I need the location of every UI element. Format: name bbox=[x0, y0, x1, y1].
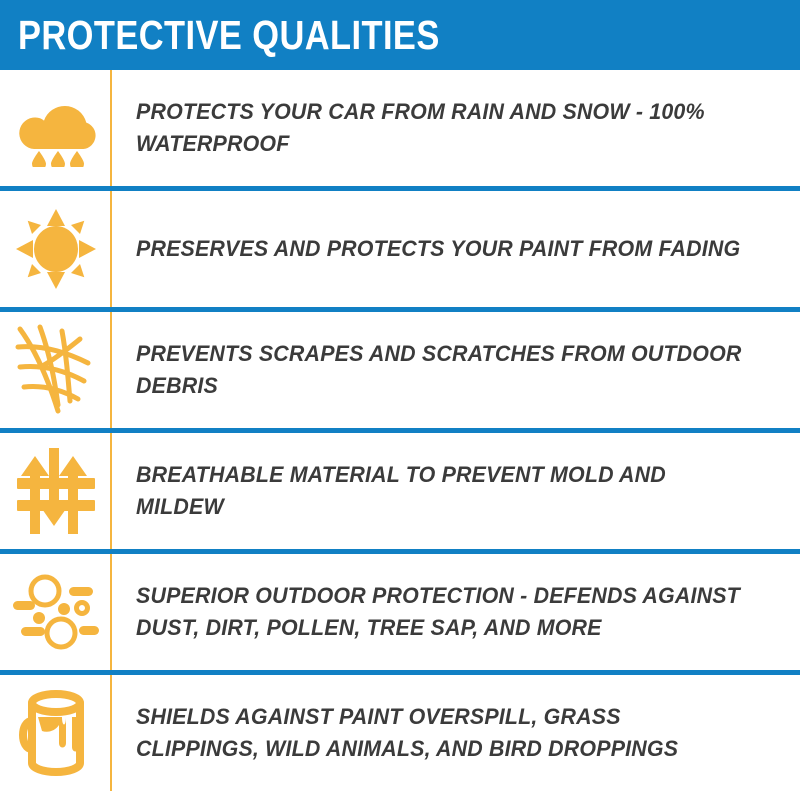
sun-icon bbox=[16, 209, 96, 289]
infographic-page: PROTECTIVE QUALITIES PROTECTS YOUR CAR F… bbox=[0, 0, 800, 800]
scratch-mesh-icon bbox=[14, 323, 98, 417]
feature-text-2: PRESERVES AND PROTECTS YOUR PAINT FROM F… bbox=[136, 233, 740, 265]
feature-text-6: SHIELDS AGAINST PAINT OVERSPILL, GRASS C… bbox=[136, 701, 748, 765]
feature-text-1: PROTECTS YOUR CAR FROM RAIN AND SNOW - 1… bbox=[136, 96, 748, 160]
text-cell-6: SHIELDS AGAINST PAINT OVERSPILL, GRASS C… bbox=[112, 675, 800, 791]
page-title: PROTECTIVE QUALITIES bbox=[18, 15, 440, 56]
feature-row-1: PROTECTS YOUR CAR FROM RAIN AND SNOW - 1… bbox=[0, 70, 800, 186]
feature-text-5: SUPERIOR OUTDOOR PROTECTION - DEFENDS AG… bbox=[136, 580, 748, 644]
text-cell-4: BREATHABLE MATERIAL TO PREVENT MOLD AND … bbox=[112, 433, 800, 549]
icon-cell-1 bbox=[0, 70, 112, 186]
icon-cell-4 bbox=[0, 433, 112, 549]
text-cell-1: PROTECTS YOUR CAR FROM RAIN AND SNOW - 1… bbox=[112, 70, 800, 186]
feature-row-3: PREVENTS SCRAPES AND SCRATCHES FROM OUTD… bbox=[0, 312, 800, 428]
icon-cell-6 bbox=[0, 675, 112, 791]
dust-particles-icon bbox=[13, 571, 99, 653]
feature-row-6: SHIELDS AGAINST PAINT OVERSPILL, GRASS C… bbox=[0, 675, 800, 791]
icon-cell-2 bbox=[0, 191, 112, 307]
icon-cell-5 bbox=[0, 554, 112, 670]
breathable-airflow-icon bbox=[17, 448, 95, 534]
paint-bucket-icon bbox=[18, 687, 94, 779]
feature-row-5: SUPERIOR OUTDOOR PROTECTION - DEFENDS AG… bbox=[0, 554, 800, 670]
header-banner: PROTECTIVE QUALITIES bbox=[0, 0, 800, 70]
text-cell-2: PRESERVES AND PROTECTS YOUR PAINT FROM F… bbox=[112, 191, 800, 307]
feature-text-4: BREATHABLE MATERIAL TO PREVENT MOLD AND … bbox=[136, 459, 748, 523]
feature-row-4: BREATHABLE MATERIAL TO PREVENT MOLD AND … bbox=[0, 433, 800, 549]
rain-cloud-icon bbox=[15, 89, 97, 167]
feature-row-2: PRESERVES AND PROTECTS YOUR PAINT FROM F… bbox=[0, 191, 800, 307]
icon-cell-3 bbox=[0, 312, 112, 428]
text-cell-5: SUPERIOR OUTDOOR PROTECTION - DEFENDS AG… bbox=[112, 554, 800, 670]
feature-list: PROTECTS YOUR CAR FROM RAIN AND SNOW - 1… bbox=[0, 70, 800, 791]
text-cell-3: PREVENTS SCRAPES AND SCRATCHES FROM OUTD… bbox=[112, 312, 800, 428]
feature-text-3: PREVENTS SCRAPES AND SCRATCHES FROM OUTD… bbox=[136, 338, 748, 402]
